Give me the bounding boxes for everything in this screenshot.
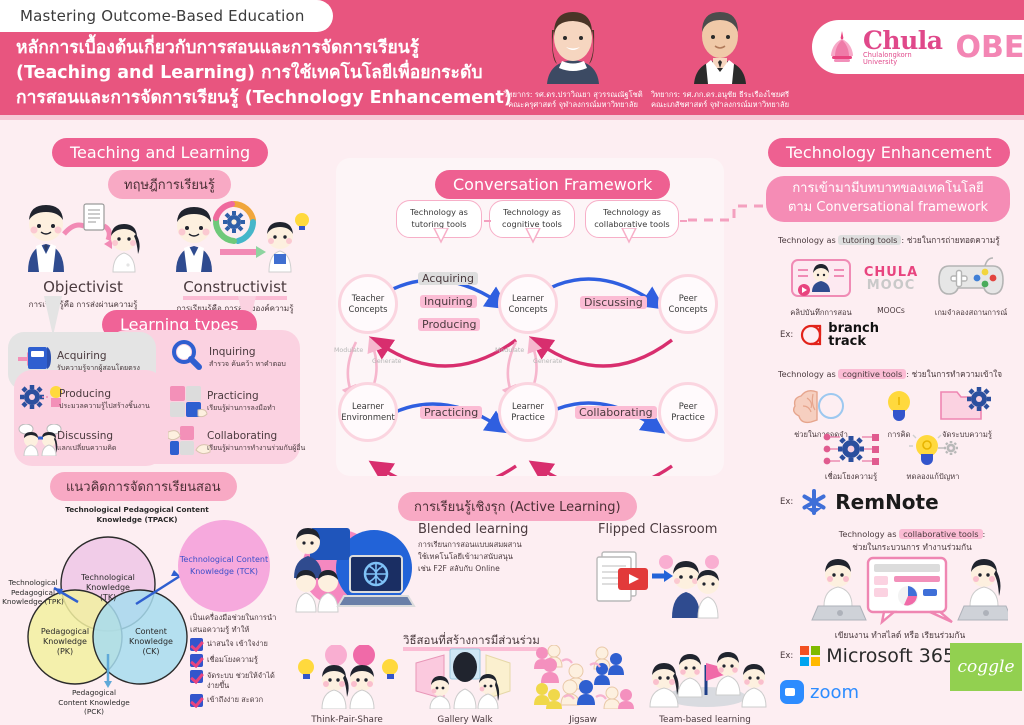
magnifier-icon [170,340,204,370]
two-people-chat-icon [18,424,52,454]
learning-type-producing: Producing ประมวลความรู้ไปสร้างชิ้นงาน [20,382,150,412]
tutoring-heading-prefix: Technology as [778,235,838,245]
active-learning-pill: การเรียนรู้เชิงรุก (Active Learning) [398,492,637,521]
tpack-section-pill: แนวคิดการจัดการเรียนสอน [50,472,237,501]
puzzle-hand-icon [168,384,202,414]
blended-learning-title: Blended learning [418,522,578,537]
branchtrack-mark-icon [800,324,822,346]
game-controller-icon [937,256,1005,302]
method-think-pair-share: Think-Pair-Share [292,645,402,725]
svg-text:(TK): (TK) [100,593,116,602]
collaborative-caption: เขียนงาน ทำสไลด์ หรือ เรียนร่วมกัน [790,628,1010,642]
coggle-logo[interactable]: coggle [950,643,1022,691]
practicing-sub: เรียนรู้ผ่านการลงมือทำ [207,404,276,413]
collaborating-label: Collaborating [207,430,277,442]
technology-subtitle-line-2: ตาม Conversational framework [776,199,1000,218]
cognitive-example-row: Ex: RemNote [780,488,939,516]
team-based-learning-icon [640,645,770,709]
speaker-1-affiliation: คณะครุศาสตร์ จุฬาลงกรณ์มหาวิทยาลัย [498,100,648,110]
tck-circle: Technological Content Knowledge (TCK) [178,520,270,612]
gear-bulb-icon [20,382,54,412]
method-gallery-walk: Gallery Walk [410,645,520,725]
learning-type-discussing: Discussing แลกเปลี่ยนความคิด [18,424,116,454]
infographic-page: Mastering Outcome-Based Education หลักกา… [0,0,1024,724]
tpk-label: Technological Pedagogical Knowledge (TPK… [2,578,64,607]
tck-notes: เป็นเครื่องมือช่วยในการนำเสนอความรู้ ทำใ… [190,612,286,707]
collab-heading-prefix: Technology as [839,529,899,539]
practicing-label: Practicing [207,390,259,402]
tck-check-4: เข้าถึงง่าย สะดวก [190,694,286,707]
theory-constructivist: Constructivist การเรียนรู้คือ การสร้างอง… [160,196,310,315]
speaker-2-name: วิทยากร: รศ.ภก.ดร.อนุชัย ธีระเรืองไชยศรี [645,90,795,100]
branchtrack-logo[interactable]: branchtrack [800,322,879,349]
speaker-2-affiliation: คณะเภสัชศาสตร์ จุฬาลงกรณ์มหาวิทยาลัย [645,100,795,110]
speaker-1: วิทยากร: รศ.ดร.ปราวิณยา สุวรรณณัฐโชติ คณ… [498,6,648,111]
brain-icon [793,388,849,424]
header-tab-label: Mastering Outcome-Based Education [20,7,305,25]
learning-theory-pill: ทฤษฎีการเรียนรู้ [108,170,231,199]
tpack-heading: Technological Pedagogical Content Knowle… [62,505,212,525]
verb-producing: Producing [418,318,480,331]
loop-label-generate-1: Generate [372,358,401,365]
method-jigsaw: Jigsaw [528,645,638,725]
loop-label-modulate-2: Modulate [495,347,524,354]
remnote-logo[interactable]: RemNote [800,488,938,516]
chula-wordmark: Chula [863,28,942,53]
verb-discussing: Discussing [580,296,647,309]
speaker-1-avatar [537,6,609,88]
collab-heading-mark: collaborative tools [899,529,982,539]
blended-desc-line-1: การเรียนการสอนแบบผสมผสาน [418,539,578,551]
think-pair-share-icon [292,645,402,709]
verb-collaborating: Collaborating [575,406,657,419]
cognitive-heading-prefix: Technology as [778,369,838,379]
svg-text:Knowledge: Knowledge [129,637,173,646]
zoom-camera-icon [780,680,804,704]
svg-text:Knowledge: Knowledge [86,583,130,592]
puzzle-hands-icon [168,424,202,454]
tck-check-1: น่าสนใจ เข้าใจง่าย [190,638,286,651]
microsoft-365-wordmark: Microsoft 365 [826,645,955,667]
producing-sub: ประมวลความรู้ไปสร้างชิ้นงาน [59,402,150,411]
collab-example-row-2: zoom [780,680,859,704]
cognitive-heading-suffix: : ช่วยในการทำความเข้าใจ [906,369,1002,379]
node-peer-concepts: Peer Concepts [658,274,718,334]
tutoring-item-2-label: MOOCs [848,306,934,316]
learning-types-tail-left [44,296,62,336]
cognitive-ex-label: Ex: [780,497,793,507]
discussing-sub: แลกเปลี่ยนความคิด [57,444,116,453]
cognitive-item-connect: เชื่อมโยงความรู้ [808,432,894,482]
blended-learning-illustration [288,520,418,619]
cognitive-heading-mark: cognitive tools [838,369,906,379]
collaborative-illustration [808,556,1008,626]
obe-wordmark: OBE [955,30,1024,65]
branchtrack-wordmark: branchtrack [828,322,879,349]
learning-type-inquiring: Inquiring สำรวจ ค้นคว้า หาคำตอบ [170,340,286,370]
learning-type-collaborating: Collaborating เรียนรู้ผ่านการทำงานร่วมกั… [168,424,305,454]
flipped-classroom-illustration [594,548,722,624]
collaborative-tools-heading: Technology as collaborative tools: ช่วยใ… [812,528,1012,553]
learning-type-practicing: Practicing เรียนรู้ผ่านการลงมือทำ [168,384,276,414]
tutoring-ex-label: Ex: [780,330,793,340]
objectivist-illustration [8,196,158,276]
checkbox-icon [190,694,203,707]
checkbox-icon [190,638,203,651]
blended-desc-line-2: ใช้เทคโนโลยีเข้ามาสนับสนุน [418,551,578,563]
tool-connector-dash-2 [680,220,687,222]
verb-practicing: Practicing [420,406,482,419]
learning-type-acquiring: Acquiring รับความรู้จากผู้สอนโดยตรง [18,344,140,374]
chula-obe-logo: Chula Chulalongkorn University OBE [812,20,1024,74]
cognitive-item-4-label: เชื่อมโยงความรู้ [808,472,894,482]
header-banner: Mastering Outcome-Based Education หลักกา… [0,0,1024,120]
loop-label-generate-2: Generate [533,358,562,365]
tck-notes-intro: เป็นเครื่องมือช่วยในการนำเสนอความรู้ ทำใ… [190,612,286,635]
svg-text:(PK): (PK) [57,647,73,656]
node-learner-environment: Learner Environment [338,382,398,442]
collab-heading-line-2: ช่วยในกระบวนการ ทำงานร่วมกัน [812,541,1012,554]
acquiring-sub: รับความรู้จากผู้สอนโดยตรง [57,364,140,373]
microsoft-squares-icon [800,646,820,666]
svg-text:Technological: Technological [80,573,135,582]
book-arrow-icon [18,344,52,374]
zoom-logo[interactable]: zoom [780,680,859,704]
tpack-venn-diagram: Technological Knowledge (TK) Pedagogical… [20,532,195,701]
producing-label: Producing [59,388,111,400]
node-teacher-concepts: Teacher Concepts [338,274,398,334]
speaker-1-name: วิทยากร: รศ.ดร.ปราวิณยา สุวรรณณัฐโชติ [498,90,648,100]
tck-check-1-label: น่าสนใจ เข้าใจง่าย [207,638,268,649]
technology-subtitle-line-1: การเข้ามามีบทบาทของเทคโนโลยี [776,180,1000,199]
cognitive-tools-heading: Technology as cognitive tools: ช่วยในการ… [778,368,1002,381]
chula-mooc-logo: CHULA MOOC [848,258,934,292]
node-peer-practice: Peer Practice [658,382,718,442]
gallery-walk-icon [410,645,520,709]
speaker-2: วิทยากร: รศ.ภก.ดร.อนุชัย ธีระเรืองไชยศรี… [645,6,795,111]
tck-check-4-label: เข้าถึงง่าย สะดวก [207,694,263,705]
tck-check-2: เชื่อมโยงความรู้ [190,654,286,667]
svg-text:Knowledge: Knowledge [43,637,87,646]
folder-gear-icon [939,386,995,424]
tck-check-3: จัดระบบ ช่วยให้จำได้ง่ายขึ้น [190,670,286,691]
collab-example-row-1: Ex: Microsoft 365 [780,645,955,667]
discussing-label: Discussing [57,430,113,442]
tck-check-3-label: จัดระบบ ช่วยให้จำได้ง่ายขึ้น [207,670,286,691]
chula-emblem-icon [828,30,856,64]
acquiring-label: Acquiring [57,350,107,362]
bulb-gear-idea-icon [905,432,961,466]
objectivist-title: Objectivist [8,278,158,296]
tutoring-heading-mark: tutoring tools [838,235,901,245]
microsoft-365-logo[interactable]: Microsoft 365 [800,645,955,667]
conversation-framework-pill: Conversation Framework [435,170,670,199]
video-lecture-icon [790,256,852,302]
blended-learning-block: Blended learning การเรียนการสอนแบบผสมผสา… [418,522,578,574]
svg-text:(CK): (CK) [142,647,159,656]
zoom-wordmark: zoom [810,682,859,703]
lightbulb-icon [879,388,919,424]
tutoring-tools-heading: Technology as tutoring tools: ช่วยในการถ… [778,234,1000,247]
section-title-teaching-learning: Teaching and Learning [52,138,268,167]
jigsaw-icon [528,645,638,709]
theory-objectivist: Objectivist การเรียนรู้คือ การส่งผ่านควา… [8,196,158,311]
speaker-2-avatar [684,6,756,88]
network-gear-icon [820,432,882,466]
header-bottom-edge [0,115,1024,120]
tutoring-heading-suffix: : ช่วยในการถ่ายทอดความรู้ [901,235,999,245]
remnote-mark-icon [800,488,828,516]
technology-subtitle: การเข้ามามีบทบาทของเทคโนโลยี ตาม Convers… [766,176,1010,222]
pck-label: Pedagogical Content Knowledge (PCK) [58,688,130,717]
node-learner-concepts: Learner Concepts [498,274,558,334]
blended-desc-line-3: เช่น F2F สลับกับ Online [418,563,578,575]
collaborating-sub: เรียนรู้ผ่านการทำงานร่วมกับผู้อื่น [207,444,305,453]
constructivist-illustration [160,196,310,276]
cognitive-item-experiment: ทดลองแก้ปัญหา [890,432,976,482]
tutoring-item-moocs: CHULA MOOC MOOCs [848,258,934,316]
flipped-classroom-title: Flipped Classroom [598,522,717,537]
inquiring-label: Inquiring [209,346,256,358]
tool-connector-dash-1 [484,220,491,222]
inquiring-sub: สำรวจ ค้นคว้า หาคำตอบ [209,360,286,369]
loop-label-modulate-1: Modulate [334,347,363,354]
chula-mooc-line-2: MOOC [848,279,934,292]
section-title-technology-enhancement: Technology Enhancement [768,138,1010,167]
cognitive-item-5-label: ทดลองแก้ปัญหา [890,472,976,482]
verb-acquiring: Acquiring [418,272,478,285]
checkbox-icon [190,654,203,667]
collab-ex-label: Ex: [780,651,793,661]
method-team-based-learning: Team-based learning [640,645,770,725]
tutoring-item-3-label: เกมจำลองสถานการณ์ [928,308,1014,318]
constructivist-title: Constructivist [183,278,287,300]
framework-to-technology-connector [688,196,778,232]
verb-inquiring: Inquiring [420,295,477,308]
collab-heading-suffix: : [983,529,986,539]
tck-check-2-label: เชื่อมโยงความรู้ [207,654,258,665]
svg-text:Pedagogical: Pedagogical [41,627,89,636]
tutoring-example-row: Ex: branchtrack [780,322,879,349]
remnote-wordmark: RemNote [835,490,938,514]
header-tab: Mastering Outcome-Based Education [0,0,333,32]
tutoring-item-game: เกมจำลองสถานการณ์ [928,256,1014,318]
node-learner-practice: Learner Practice [498,382,558,442]
checkbox-icon [190,670,203,683]
svg-text:Content: Content [135,627,167,636]
